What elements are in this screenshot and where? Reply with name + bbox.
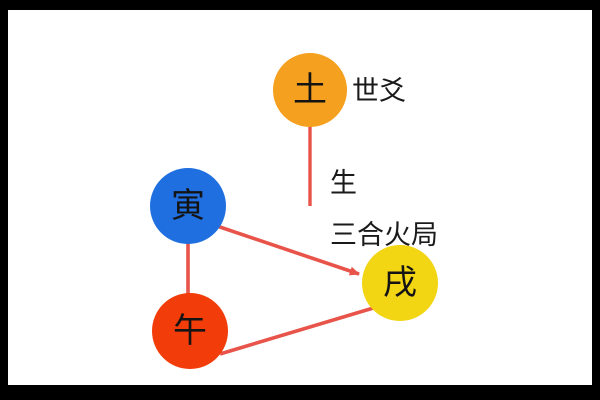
node-horse-label: 午: [173, 314, 207, 348]
node-earth-label: 土: [293, 73, 327, 107]
node-dog[interactable]: 戌: [362, 245, 438, 321]
node-earth[interactable]: 土: [273, 53, 347, 127]
diagram-canvas: 土 寅 午 戌 世爻 生 三合火局: [8, 10, 592, 385]
annotation-sheng: 生: [330, 170, 357, 197]
node-tiger-label: 寅: [171, 189, 205, 223]
annotation-sanhe: 三合火局: [330, 222, 438, 249]
node-tiger[interactable]: 寅: [150, 168, 226, 244]
edge-horse-dog: [220, 306, 380, 354]
node-dog-label: 戌: [383, 266, 417, 300]
node-horse[interactable]: 午: [152, 293, 228, 369]
annotation-shiyao: 世爻: [352, 78, 406, 105]
image-frame: 土 寅 午 戌 世爻 生 三合火局: [0, 0, 600, 400]
